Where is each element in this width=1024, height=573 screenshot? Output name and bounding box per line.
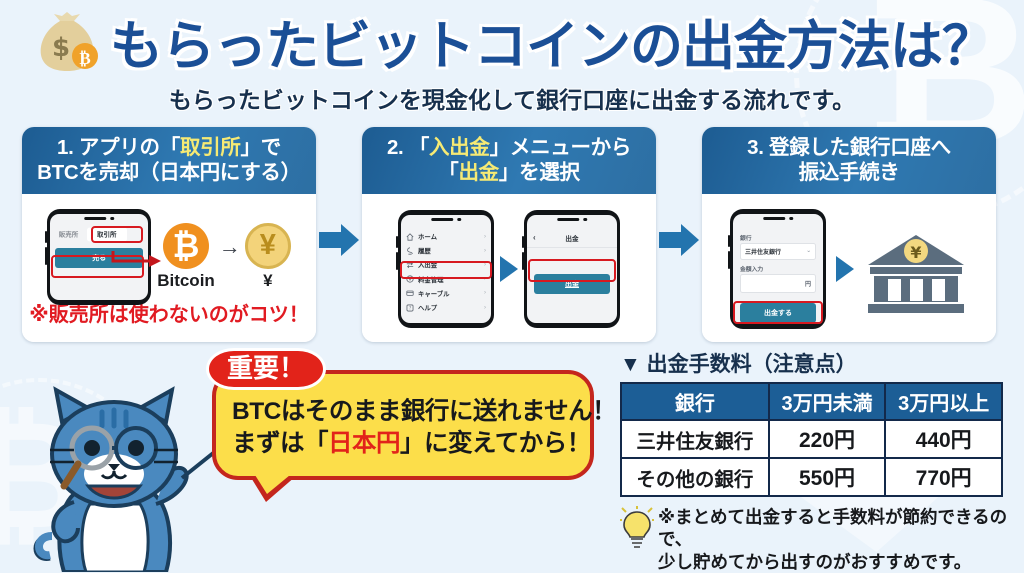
withdraw-nav-bar: ‹ 出金 [527,230,617,248]
menu-item-fee-management-label: 料金管理 [418,275,480,284]
tab-sales-office[interactable]: 販売所 [55,227,82,241]
step-1-heading-line2: BTCを売却（日本円にする） [28,160,310,185]
step-2-heading-line2-highlight: 出金 [458,161,498,184]
table-row: その他の銀行 550円 770円 [621,458,1002,496]
speech-bubble: 重要！ BTCはそのまま銀行に送れません！ まずは「日本円」に変えてから！ [212,370,594,480]
history-icon [406,247,414,255]
menu-item-cable-label: キャーブル [418,289,480,298]
exchange-tabs: 販売所 取引所 [50,227,148,240]
svg-text:¥: ¥ [409,277,412,282]
menu-item-cable[interactable]: キャーブル › [401,286,491,300]
mascot-and-bubble: 重要！ BTCはそのまま銀行に送れません！ まずは「日本円」に変えてから！ [16,348,616,566]
step-2-heading: 2. 「入出金」メニューから 「出金」を選択 [362,127,656,194]
submit-withdraw-button[interactable]: 出金する [740,303,816,323]
card-icon [406,289,414,297]
back-chevron-icon[interactable]: ‹ [533,233,543,242]
row-label-other-banks: その他の銀行 [621,458,769,496]
transfer-form-screen: 銀行 三井住友銀行 ⌄ 金額入力 円 出金する [733,214,823,324]
menu-item-help[interactable]: ? ヘルプ › [401,300,491,314]
page-title: もらったビットコインの出金方法は？ [110,4,994,80]
menu-item-deposit-withdraw[interactable]: 入出金 › [401,258,491,272]
bottom-section: 重要！ BTCはそのまま銀行に送れません！ まずは「日本円」に変えてから！ ▼ … [0,348,1024,573]
money-bag-icon: $ ₿ [30,11,104,73]
chevron-right-icon: › [484,262,486,268]
convert-arrow-icon: → [219,236,241,258]
phone-notch [557,218,587,222]
step-card-3: 3. 登録した銀行口座へ 振込手続き 銀行 三井住友銀行 ⌄ [702,127,996,342]
phone-notch [763,217,793,221]
menu-item-deposit-withdraw-label: 入出金 [418,260,480,269]
phone-mock-transfer-form: 銀行 三井住友銀行 ⌄ 金額入力 円 出金する [730,209,826,329]
bitcoin-label: Bitcoin [157,271,215,291]
menu-item-history-label: 履歴 [418,246,480,255]
menu-item-home[interactable]: ホーム › [401,230,491,244]
fee-table: 銀行 3万円未満 3万円以上 三井住友銀行 220円 440円 その他の銀行 5… [620,382,1003,497]
menu-item-history[interactable]: 履歴 › [401,244,491,258]
step-1-heading-prefix: 1. アプリの「 [57,136,180,159]
tip-note: ※まとめて出金すると手数料が節約できるので、 少し貯めてから出すのがおすすめです… [620,506,1015,573]
flow-arrow-form-to-bank [834,255,856,283]
chevron-right-icon: › [484,290,486,296]
svg-text:¥: ¥ [910,243,921,262]
important-badge: 重要！ [206,348,326,390]
bubble-line-2-highlight: 日本円 [328,430,400,457]
flow-arrow-menu-to-withdraw [494,255,524,283]
step-2-heading-highlight: 入出金 [429,136,490,159]
svg-text:$: $ [52,33,70,63]
step-3-heading-line2: 振込手続き [708,160,990,185]
bubble-line-2-prefix: まずは「 [232,430,328,457]
menu-item-fee-management[interactable]: ¥ 料金管理 › [401,272,491,286]
step-card-2: 2. 「入出金」メニューから 「出金」を選択 [362,127,656,342]
step-3-heading: 3. 登録した銀行口座へ 振込手続き [702,127,996,194]
yen-coin-icon: ¥ [245,223,291,269]
wallet-icon: ¥ [406,275,414,283]
header: $ ₿ もらったビットコインの出金方法は？ もらったビットコインを現金化して銀行… [0,0,1024,115]
triangle-marker-icon: ▼ [620,353,641,376]
phone-notch [84,217,114,221]
flow-arrow-1-to-2 [316,127,362,257]
bitcoin-coin-group: ₿ Bitcoin [157,223,215,291]
cell-smbc-over-30k: 440円 [885,420,1002,458]
cell-other-over-30k: 770円 [885,458,1002,496]
bubble-line-2: まずは「日本円」に変えてから！ [232,428,574,460]
help-icon: ? [406,304,414,312]
page-subtitle: もらったビットコインを現金化して銀行口座に出金する流れです。 [0,81,1024,115]
menu-screen: ホーム › 履歴 › [401,215,491,323]
step-card-1: 1. アプリの「取引所」で BTCを売却（日本円にする） 販売所 取引所 [22,127,316,342]
menu-item-help-label: ヘルプ [418,303,480,312]
row-label-smbc: 三井住友銀行 [621,420,769,458]
withdraw-button[interactable]: 出金 [534,274,610,294]
bitcoin-coin-icon: ₿ [163,223,209,269]
step-1-body: 販売所 取引所 売る ₿ Bitc [22,194,316,342]
fee-table-title-text: 出金手数料（注意点） [647,353,857,376]
chevron-down-icon: ⌄ [806,248,811,254]
title-row: $ ₿ もらったビットコインの出金方法は？ [0,4,1024,80]
tip-text: ※まとめて出金すると手数料が節約できるので、 少し貯めてから出すのがおすすめです… [658,506,1015,573]
flow-arrow-2-to-3 [656,127,702,257]
chevron-right-icon: › [484,305,486,311]
tip-line-1: ※まとめて出金すると手数料が節約できるので、 [658,506,1015,551]
steps-row: 1. アプリの「取引所」で BTCを売却（日本円にする） 販売所 取引所 [0,127,1024,342]
step-3-heading-line1: 3. 登録した銀行口座へ [708,135,990,160]
step-2-heading-line2-prefix: 「 [438,161,458,184]
svg-text:?: ? [409,305,411,310]
step-2-heading-line2-suffix: 」を選択 [499,161,580,184]
cell-smbc-under-30k: 220円 [769,420,886,458]
transfer-icon [406,261,414,269]
phone-notch [431,218,461,222]
lightbulb-icon [620,506,654,550]
column-header-bank: 銀行 [621,383,769,420]
step-2-heading-suffix: 」メニューから [490,136,631,159]
menu-item-home-label: ホーム [418,232,480,241]
bank-field-label: 銀行 [733,229,823,243]
phone-mock-menu: ホーム › 履歴 › [398,210,494,328]
fee-section: ▼ 出金手数料（注意点） 銀行 3万円未満 3万円以上 三井住友銀行 220円 … [616,348,1015,573]
cell-other-under-30k: 550円 [769,458,886,496]
bank-select-value: 三井住友銀行 [745,247,781,256]
conversion-row: ₿ Bitcoin → ¥ ¥ [157,223,291,291]
step-1-heading-suffix: 」で [241,136,281,159]
step-1-note: ※販売所は使わないのがコツ！ [29,305,308,329]
home-icon [406,233,414,241]
column-header-over-30k: 3万円以上 [885,383,1002,420]
step-2-heading-prefix: 2. 「 [387,136,429,159]
yen-label: ¥ [263,271,272,291]
bank-building-icon: ¥ [864,221,968,317]
withdraw-screen: ‹ 出金 出金 [527,215,617,323]
amount-input[interactable]: 円 [740,274,816,293]
table-row: 三井住友銀行 220円 440円 [621,420,1002,458]
withdraw-screen-title: 出金 [543,233,601,243]
step-3-body: 銀行 三井住友銀行 ⌄ 金額入力 円 出金する [702,194,996,342]
amount-unit-label: 円 [805,279,811,288]
svg-text:₿: ₿ [79,49,90,69]
bank-select[interactable]: 三井住友銀行 ⌄ [740,243,816,260]
step-2-body: ホーム › 履歴 › [362,194,656,342]
chevron-right-icon: › [484,276,486,282]
step-1-heading-highlight: 取引所 [180,136,241,159]
bubble-line-1: BTCはそのまま銀行に送れません！ [232,396,574,428]
chevron-right-icon: › [484,234,486,240]
amount-field-label: 金額入力 [733,260,823,274]
red-pointer-arrow [111,247,163,271]
tab-exchange[interactable]: 取引所 [87,227,126,241]
step-1-heading: 1. アプリの「取引所」で BTCを売却（日本円にする） [22,127,316,194]
cat-mascot-icon [16,386,224,572]
column-header-under-30k: 3万円未満 [769,383,886,420]
phone-mock-withdraw: ‹ 出金 出金 [524,210,620,328]
table-header-row: 銀行 3万円未満 3万円以上 [621,383,1002,420]
tip-line-2: 少し貯めてから出すのがおすすめです。 [658,551,1015,573]
fee-table-title: ▼ 出金手数料（注意点） [620,348,1015,378]
bubble-line-2-suffix: 」に変えてから！ [400,430,591,457]
chevron-right-icon: › [484,248,486,254]
yen-coin-group: ¥ ¥ [245,223,291,291]
